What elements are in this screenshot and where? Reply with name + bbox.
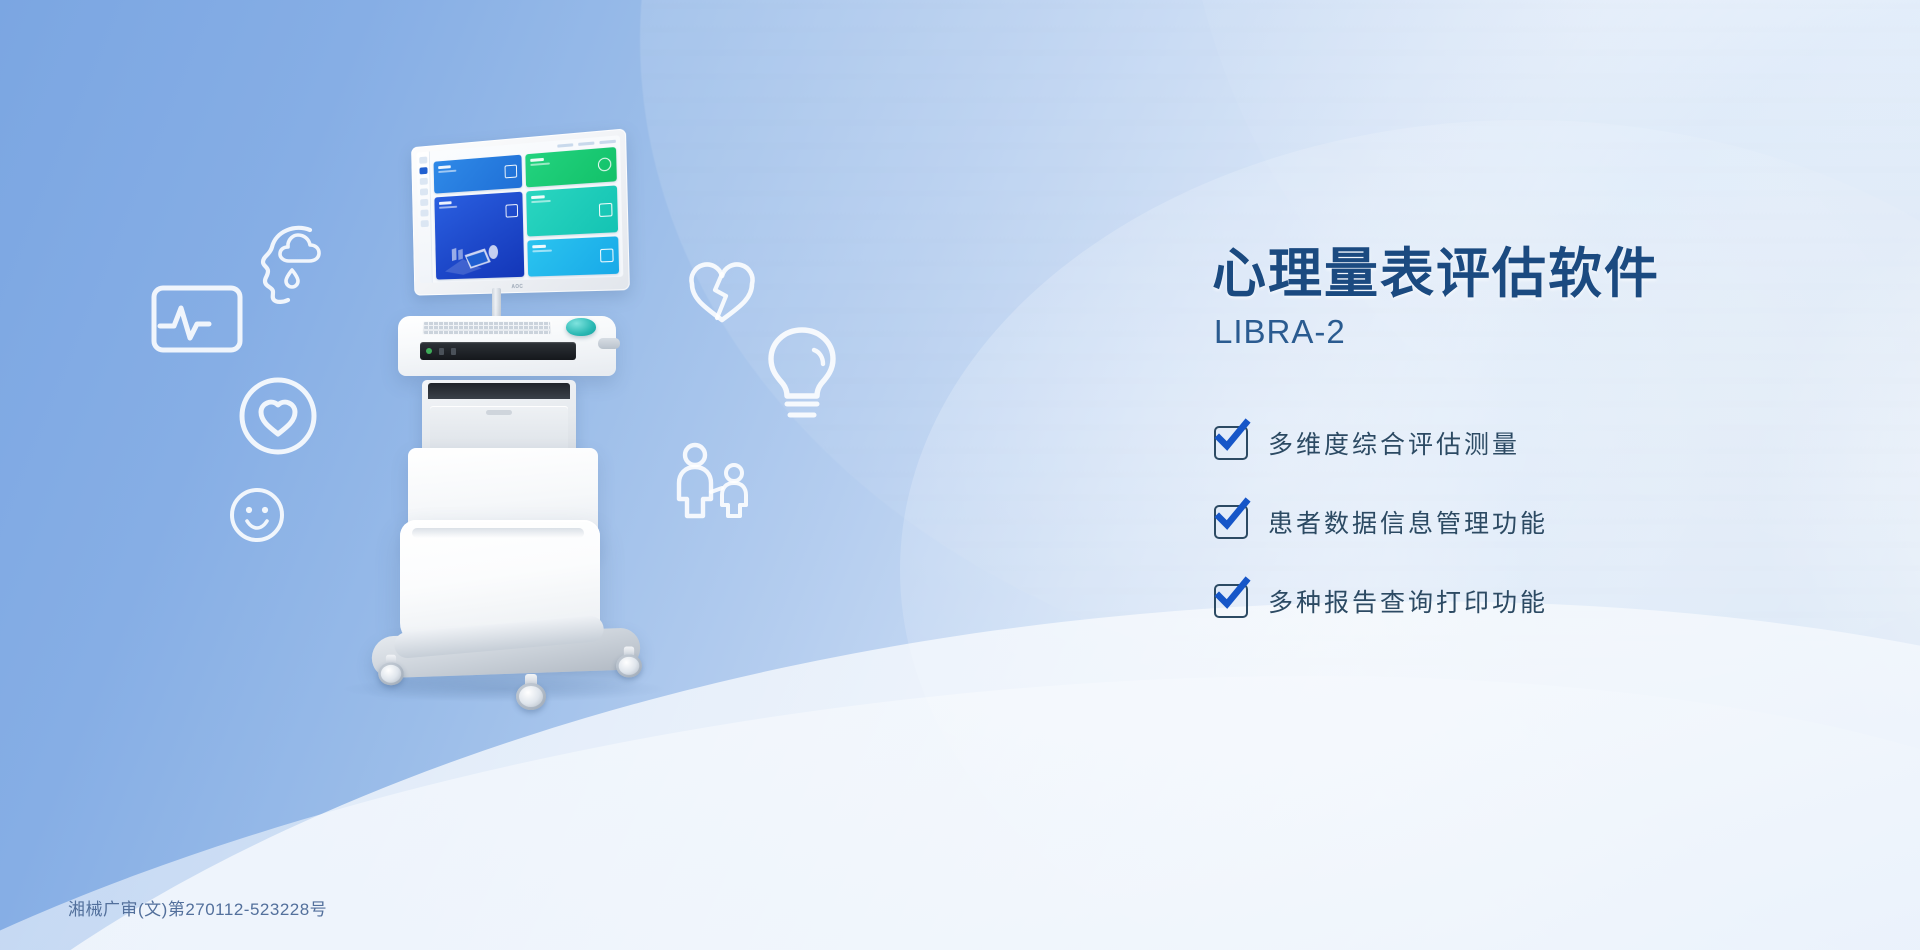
tile-sublabel <box>531 162 551 166</box>
bar-chart-icon <box>600 249 614 263</box>
cart-base <box>352 618 652 696</box>
app-content <box>430 135 624 282</box>
lightbulb-icon <box>756 320 848 432</box>
sidebar-item-stats[interactable] <box>420 209 428 216</box>
sidebar-item-patients[interactable] <box>419 178 427 185</box>
edit-icon <box>505 165 518 179</box>
broken-heart-icon <box>684 258 760 328</box>
topbar-item-status[interactable] <box>578 142 594 146</box>
tile-label <box>530 158 544 162</box>
checkbox-checked-icon <box>1214 584 1248 618</box>
head-cloud-tear-icon <box>248 212 340 304</box>
usb-port-icon <box>451 348 456 355</box>
heartbeat-monitor-icon <box>148 282 246 360</box>
feature-label: 多维度综合评估测量 <box>1268 425 1520 461</box>
tile-sublabel <box>438 170 456 173</box>
tile-sublabel <box>533 250 553 253</box>
list-item: 患者数据信息管理功能 <box>1214 504 1832 540</box>
checkbox-checked-icon <box>1214 426 1248 460</box>
approval-number: 湘械广审(文)第270112-523228号 <box>68 895 327 920</box>
dashboard-tile-grid <box>434 147 620 280</box>
product-text-panel: 心理量表评估软件 LIBRA-2 多维度综合评估测量 患者数据信息管理功能 <box>1212 243 1832 662</box>
topbar-item-time <box>599 140 616 144</box>
tile-sublabel <box>531 200 551 203</box>
medical-cart-device: AOC <box>330 120 690 840</box>
caster-wheel <box>378 655 404 686</box>
power-indicator-icon <box>426 348 432 354</box>
list-item: 多种报告查询打印功能 <box>1214 583 1832 619</box>
sidebar-logo-icon <box>419 157 427 164</box>
sidebar-item-home[interactable] <box>419 167 427 174</box>
sidebar-item-scales[interactable] <box>420 188 428 195</box>
usb-port-icon <box>439 348 444 355</box>
smiley-face-icon <box>226 484 288 546</box>
topbar-item-user[interactable] <box>557 143 573 147</box>
feature-label: 多种报告查询打印功能 <box>1268 583 1548 619</box>
cart-side-handle[interactable] <box>598 338 620 349</box>
tile-label <box>533 245 547 249</box>
list-item: 多维度综合评估测量 <box>1214 425 1832 461</box>
isometric-illustration <box>443 240 503 276</box>
keyboard[interactable] <box>422 320 552 335</box>
caster-wheel <box>516 674 546 710</box>
sidebar-item-settings[interactable] <box>420 220 428 227</box>
mouse[interactable] <box>566 318 596 336</box>
heart-pulse-icon <box>598 158 612 172</box>
banner-stage: AOC <box>0 0 1920 950</box>
tile-label <box>531 195 545 199</box>
control-panel[interactable] <box>420 342 576 360</box>
monitor-brand-logo: AOC <box>511 283 523 289</box>
heart-in-circle-icon <box>232 370 324 462</box>
cart-worktop <box>398 316 616 376</box>
feature-list: 多维度综合评估测量 患者数据信息管理功能 多种报告查询打印功能 <box>1214 425 1832 619</box>
monitor-bezel: AOC <box>411 128 630 295</box>
printer-front-cover[interactable] <box>430 406 568 454</box>
caster-wheel <box>616 647 642 678</box>
feature-label: 患者数据信息管理功能 <box>1268 504 1548 540</box>
monitor: AOC <box>411 128 630 295</box>
dashboard-tile-new-assessment[interactable] <box>434 155 523 194</box>
checkbox-checked-icon <box>1214 505 1248 539</box>
clipboard-icon <box>599 202 613 216</box>
tile-label <box>439 201 452 205</box>
sidebar-item-reports[interactable] <box>420 199 428 206</box>
tile-label <box>438 165 451 169</box>
monitor-neck <box>492 288 501 318</box>
printer-paper-tray[interactable] <box>428 383 570 399</box>
product-model: LIBRA-2 <box>1214 312 1832 352</box>
dashboard-tile-statistics[interactable] <box>528 237 620 277</box>
id-card-icon <box>506 204 519 218</box>
page-title: 心理量表评估软件 <box>1212 243 1832 306</box>
dashboard-tile-heart-monitor[interactable] <box>526 147 617 187</box>
dashboard-tile-main-feature[interactable] <box>434 191 524 279</box>
monitor-screen <box>416 135 623 283</box>
dashboard-tile-records[interactable] <box>526 185 618 237</box>
tile-sublabel <box>439 206 457 209</box>
